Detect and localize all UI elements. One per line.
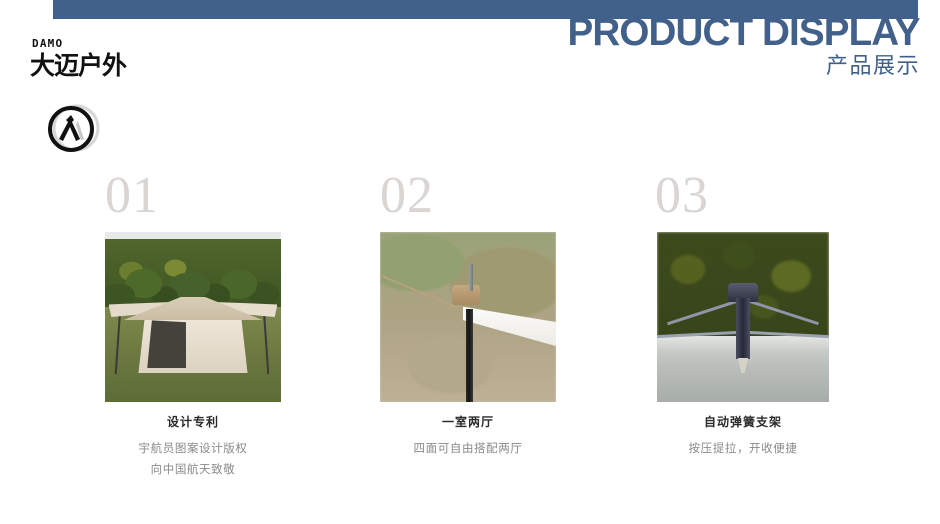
slide-root: { "header": { "title_en": "PRODUCT DISPL… <box>0 0 940 524</box>
product-card: 03 自动弹簧支架 按压提拉，开收便捷 <box>618 170 868 460</box>
product-card-list: 01 设计专利 宇航员图案设计版权 向中国航天致敬 02 一室两厅 <box>0 170 940 490</box>
card-number: 02 <box>343 170 593 226</box>
circle-hiker-icon <box>45 101 101 156</box>
card-title: 自动弹簧支架 <box>618 413 868 430</box>
card-number: 01 <box>68 170 318 226</box>
card-number: 03 <box>618 170 868 226</box>
tent-on-grass-photo <box>105 232 281 402</box>
card-description-line-1: 宇航员图案设计版权 <box>68 439 318 460</box>
card-title: 设计专利 <box>68 413 318 430</box>
header-title-chinese: 产品展示 <box>564 55 920 77</box>
card-title: 一室两厅 <box>343 413 593 430</box>
header-title: PRODUCT DISPLAY 产品展示 <box>564 13 920 77</box>
product-card: 01 设计专利 宇航员图案设计版权 向中国航天致敬 <box>68 170 318 482</box>
product-card: 02 一室两厅 四面可自由搭配两厅 <box>343 170 593 460</box>
card-description-line-1: 按压提拉，开收便捷 <box>618 439 868 460</box>
logo-chinese-text: 大迈户外 <box>30 52 126 80</box>
card-description-line-1: 四面可自由搭配两厅 <box>343 439 593 460</box>
card-description-line-2: 向中国航天致敬 <box>68 460 318 481</box>
header-title-english: PRODUCT DISPLAY <box>568 13 920 52</box>
brand-logo: DAMO 大迈户外 <box>30 38 126 80</box>
tent-pole-closeup-photo <box>380 232 556 402</box>
tent-hub-mechanism-photo <box>657 232 829 402</box>
logo-latin-text: DAMO <box>32 38 126 49</box>
